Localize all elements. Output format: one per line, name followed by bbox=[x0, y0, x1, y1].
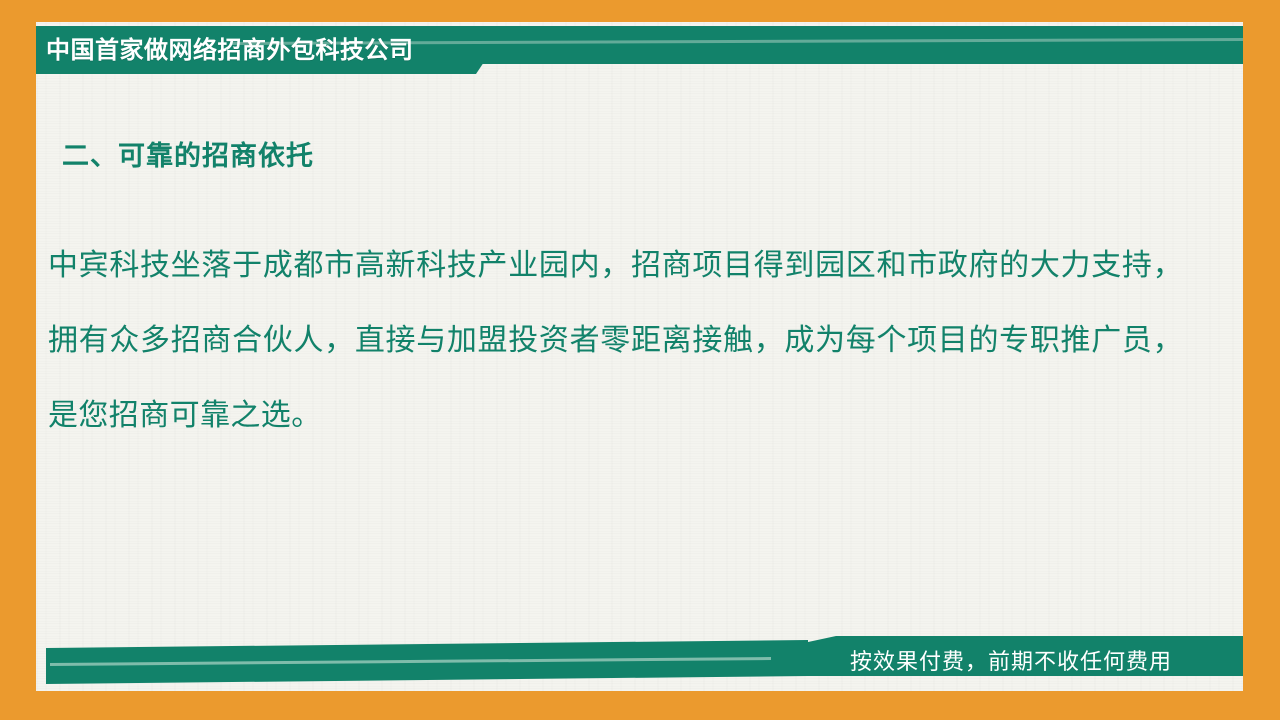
footer-tagline: 按效果付费，前期不收任何费用 bbox=[850, 648, 1172, 676]
header-title: 中国首家做网络招商外包科技公司 bbox=[46, 36, 414, 66]
section-heading: 二、可靠的招商依托 bbox=[62, 139, 314, 173]
body-paragraph: 中宾科技坐落于成都市高新科技产业园内，招商项目得到园区和市政府的大力支持，拥有众… bbox=[48, 228, 1183, 453]
slide-canvas: 中国首家做网络招商外包科技公司 二、可靠的招商依托 中宾科技坐落于成都市高新科技… bbox=[0, 0, 1280, 720]
